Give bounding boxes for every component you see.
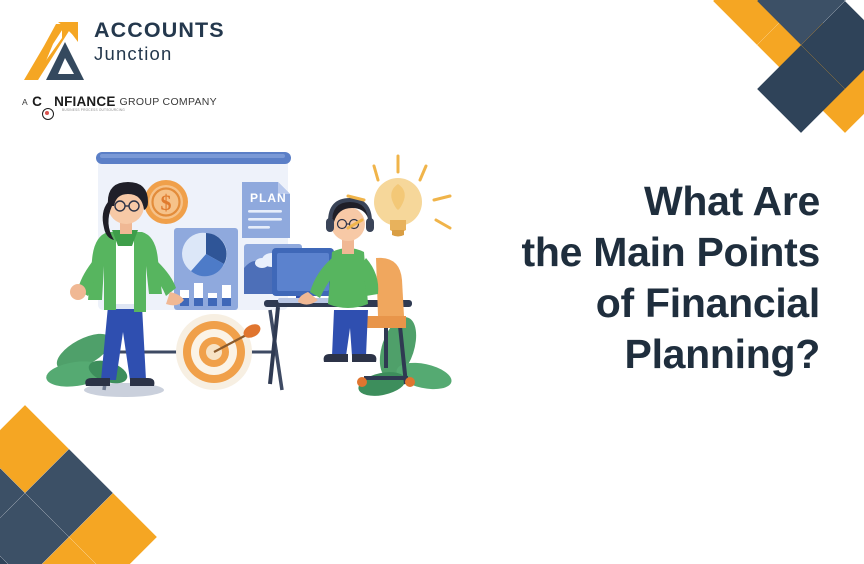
blog-banner: ACCOUNTS Junction A CNFIANCE GROUP COMPA… [0, 0, 864, 564]
tagline-prefix: A [22, 97, 28, 107]
logo-microtext: BUSINESS PROCESS OUTSOURCING [62, 108, 125, 112]
headline-line-3: of Financial [400, 278, 820, 329]
deco-diamond-navy [0, 493, 69, 564]
tagline-brand-confiance: CNFIANCE [32, 94, 115, 109]
deco-diamond-orange [713, 0, 801, 1]
headline-line-4: Planning? [400, 329, 820, 380]
deco-diamond-navy [25, 449, 113, 537]
deco-diamond-orange [801, 45, 864, 133]
target-dartboard-icon [176, 314, 263, 390]
logo-text-junction: Junction [94, 43, 239, 65]
deco-diamond-navy [757, 45, 845, 133]
deco-diamond-orange [757, 1, 845, 89]
deco-diamond-orange [713, 0, 801, 45]
deco-diamond-navy [757, 0, 845, 45]
page-title: What Are the Main Points of Financial Pl… [400, 176, 820, 380]
plan-document-card: PLAN [242, 182, 290, 238]
financial-planning-illustration: PLAN [46, 140, 456, 410]
dollar-coin-icon: $ [144, 180, 188, 224]
deco-diamond-navy [801, 1, 864, 89]
logo-wordmark: ACCOUNTS Junction [94, 18, 239, 65]
deco-diamond-orange [0, 405, 69, 493]
headline-line-1: What Are [400, 176, 820, 227]
logo-tagline: A CNFIANCE GROUP COMPANY [22, 94, 217, 109]
deco-diamond-navy [0, 449, 25, 537]
deco-diamond-orange [25, 537, 113, 564]
svg-text:PLAN: PLAN [250, 191, 287, 205]
triangle-arrow-logo-icon [22, 22, 88, 84]
tagline-suffix: GROUP COMPANY [120, 96, 217, 108]
deco-diamond-navy [0, 537, 25, 564]
svg-text:$: $ [161, 190, 172, 215]
brand-logo[interactable]: ACCOUNTS Junction A CNFIANCE GROUP COMPA… [22, 18, 237, 103]
deco-diamond-orange [69, 493, 157, 564]
deco-diamond-navy [801, 0, 864, 1]
pie-chart-card [174, 228, 238, 310]
logo-text-accounts: ACCOUNTS [94, 18, 239, 43]
headline-line-2: the Main Points [400, 227, 820, 278]
